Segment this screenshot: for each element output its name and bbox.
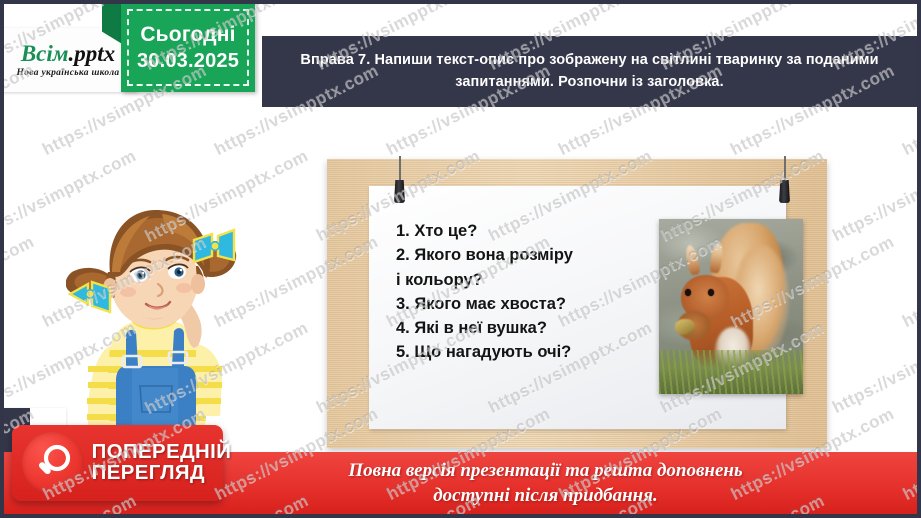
preview-badge-label: ПОПЕРЕДНІЙ ПЕРЕГЛЯД (92, 442, 232, 484)
question-item: 4. Які в неї вушка? (396, 316, 656, 340)
squirrel-eye-right (708, 289, 714, 296)
date-badge-label: Сьогодні (140, 22, 235, 48)
question-item: 5. Що нагадують очі? (396, 340, 656, 364)
task-instruction-text: Вправа 7. Напиши текст-опис про зображен… (284, 50, 895, 92)
clip-wire-left-icon (399, 156, 401, 182)
logo-extension: .pptx (69, 41, 116, 66)
logo-name: Всім (21, 41, 69, 66)
squirrel-nut (675, 319, 695, 335)
girl-illustration (66, 180, 244, 432)
watermark-text: https://vsimpptx.com (829, 318, 917, 418)
question-item: 1. Хто це? (396, 219, 656, 243)
question-item: 2. Якого вона розміру і кольору? (396, 243, 656, 292)
magnifier-icon (22, 432, 84, 494)
presentation-slide: Всім.pptx Нова українська школа Сьогодні… (0, 0, 921, 518)
logo-wordmark: Всім.pptx (21, 42, 115, 65)
watermark-text: https://vsimpptx.com (829, 146, 917, 246)
date-badge-value: 30.03.2025 (137, 49, 239, 74)
clip-wire-right-icon (784, 156, 786, 182)
photo-grass (659, 350, 803, 394)
binder-clip-left-icon (394, 180, 405, 203)
preview-badge[interactable]: ПОПЕРЕДНІЙ ПЕРЕГЛЯД (12, 425, 223, 501)
watermark-text: https://vsimpptx.com (4, 232, 38, 332)
girl-illustration-svg (66, 180, 244, 432)
magnifier-glyph (31, 441, 75, 485)
watermark-text: https://vsimpptx.com (899, 232, 917, 332)
squirrel-eye-left (685, 289, 691, 296)
date-badge: Сьогодні 30.03.2025 (121, 4, 255, 92)
squirrel-photo (659, 219, 803, 394)
task-banner: Вправа 7. Напиши текст-опис про зображен… (262, 36, 917, 107)
question-list: 1. Хто це? 2. Якого вона розміру і кольо… (396, 219, 656, 365)
binder-clip-right-icon (779, 180, 790, 203)
purchase-banner-text: Повна версія презентації та решта доповн… (178, 458, 742, 508)
question-item: 3. Якого має хвоста? (396, 292, 656, 316)
logo-tagline: Нова українська школа (17, 68, 120, 78)
